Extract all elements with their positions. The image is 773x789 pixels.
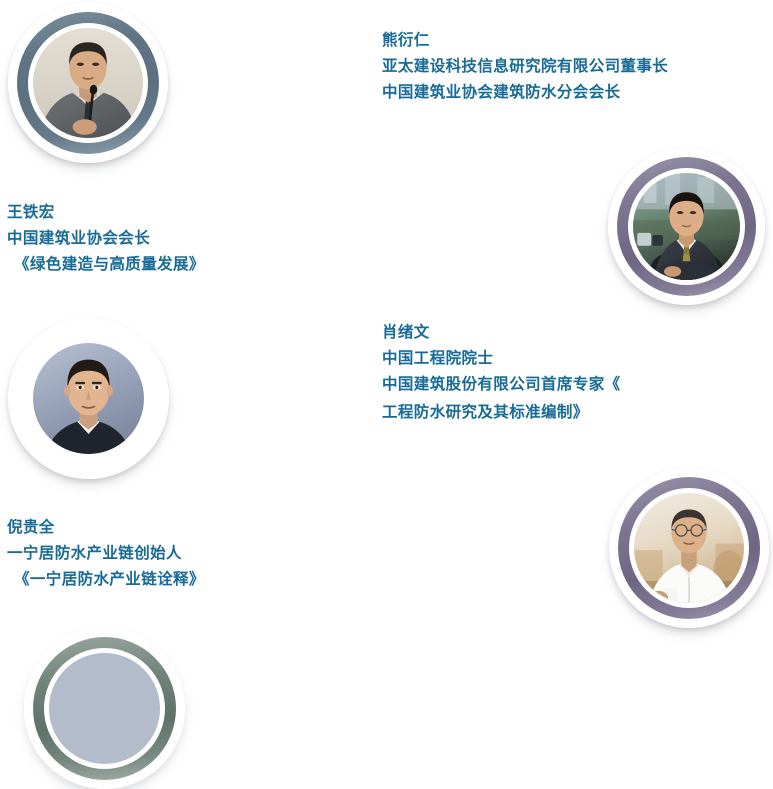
avatar-photo-xiong-yanren [33,28,143,138]
speaker-topic: 《绿色建造与高质量发展》 [7,251,205,277]
speaker-info-xiao-xuwen: 肖绪文 中国工程院院士 中国建筑股份有限公司首席专家《 工程防水研究及其标准编制… [382,319,621,428]
speaker-name: 熊衍仁 [382,27,668,53]
speaker-info-xiong-yanren: 熊衍仁 亚太建设科技信息研究院有限公司董事长 中国建筑业协会建筑防水分会会长 [382,27,668,105]
speaker-name: 王铁宏 [7,199,205,225]
avatar-next-speaker-partial [24,628,185,789]
avatar-ni-guiquan [609,468,769,628]
avatar-wang-tiehong [608,148,765,305]
speaker-title-1: 一宁居防水产业链创始人 [7,540,205,566]
speaker-info-ni-guiquan: 倪贵全 一宁居防水产业链创始人 《一宁居防水产业链诠释》 [7,514,205,592]
avatar-xiong-yanren [8,3,168,163]
speaker-info-wang-tiehong: 王铁宏 中国建筑业协会会长 《绿色建造与高质量发展》 [7,199,205,277]
speaker-topic: 《一宁居防水产业链诠释》 [7,566,205,592]
speaker-lineup-page: 熊衍仁 亚太建设科技信息研究院有限公司董事长 中国建筑业协会建筑防水分会会长 [0,0,773,633]
avatar-xiao-xuwen [8,318,169,479]
avatar-photo-next-speaker [49,653,160,764]
avatar-photo-wang-tiehong [633,173,740,280]
speaker-name: 倪贵全 [7,514,205,540]
speaker-title-1: 中国建筑业协会会长 [7,225,205,251]
speaker-title-2: 中国建筑业协会建筑防水分会会长 [382,79,668,105]
speaker-topic: 工程防水研究及其标准编制》 [382,397,621,428]
avatar-photo-ni-guiquan [634,493,744,603]
avatar-photo-xiao-xuwen [33,343,144,454]
speaker-title-2: 中国建筑股份有限公司首席专家《 [382,371,621,397]
speaker-title-1: 中国工程院院士 [382,345,621,371]
speaker-name: 肖绪文 [382,319,621,345]
speaker-title-1: 亚太建设科技信息研究院有限公司董事长 [382,53,668,79]
